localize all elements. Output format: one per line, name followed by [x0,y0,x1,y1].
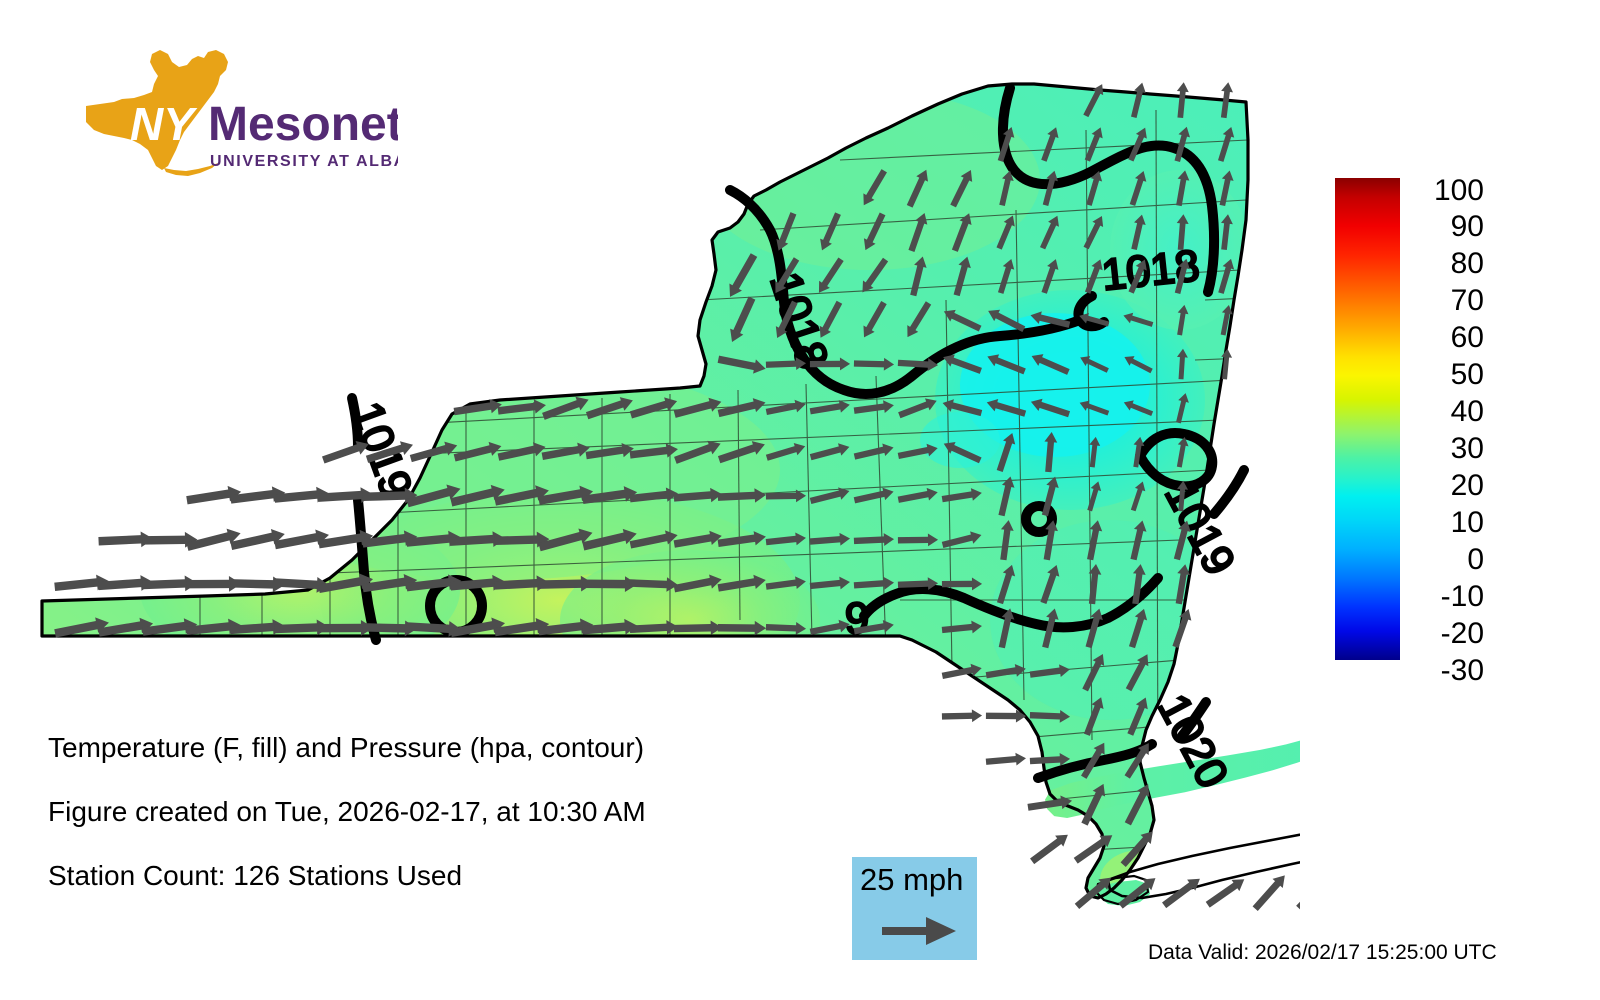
caption-variables: Temperature (F, fill) and Pressure (hpa,… [48,716,848,780]
colorbar-tick: 80 [1412,249,1484,279]
colorbar-tick: -30 [1412,656,1484,686]
caption-created: Figure created on Tue, 2026-02-17, at 10… [48,780,848,844]
colorbar-gradient [1335,178,1400,660]
colorbar-tick: 50 [1412,360,1484,390]
wind-reference-arrow-icon [880,911,958,951]
colorbar-tick: -20 [1412,619,1484,649]
contour-label-1019-clipped: 9 [845,594,869,643]
wind-legend-label: 25 mph [860,861,963,899]
wind-speed-legend: 25 mph [852,857,977,960]
colorbar-tick: 30 [1412,434,1484,464]
contour-label-1018-north: 1018 [1099,241,1201,300]
caption-station-count: Station Count: 126 Stations Used [48,844,848,908]
figure-caption: Temperature (F, fill) and Pressure (hpa,… [48,716,848,908]
wind-arrow-icon [1028,829,1072,867]
colorbar-tick: 0 [1412,545,1484,575]
colorbar-tick: 10 [1412,508,1484,538]
wind-arrow-icon [942,709,982,723]
colorbar-tick: 20 [1412,471,1484,501]
colorbar-tick: -10 [1412,582,1484,612]
colorbar-tick-labels: 100 90 80 70 60 50 40 30 20 10 0 -10 -20… [1412,170,1532,670]
colorbar-tick: 70 [1412,286,1484,316]
data-valid-timestamp: Data Valid: 2026/02/17 15:25:00 UTC [1148,940,1497,966]
colorbar-tick: 90 [1412,212,1484,242]
wind-arrow-icon [229,526,286,553]
contour-1019-se-top [1214,470,1244,514]
temperature-colorbar: 100 90 80 70 60 50 40 30 20 10 0 -10 -20… [1300,170,1600,670]
colorbar-tick: 60 [1412,323,1484,353]
wind-arrow-icon [1160,873,1204,911]
wind-arrow-icon [1250,871,1290,913]
wind-arrow-icon [1294,871,1300,913]
colorbar-tick: 40 [1412,397,1484,427]
wind-arrow-icon [985,752,1026,768]
colorbar-tick: 100 [1412,176,1484,206]
